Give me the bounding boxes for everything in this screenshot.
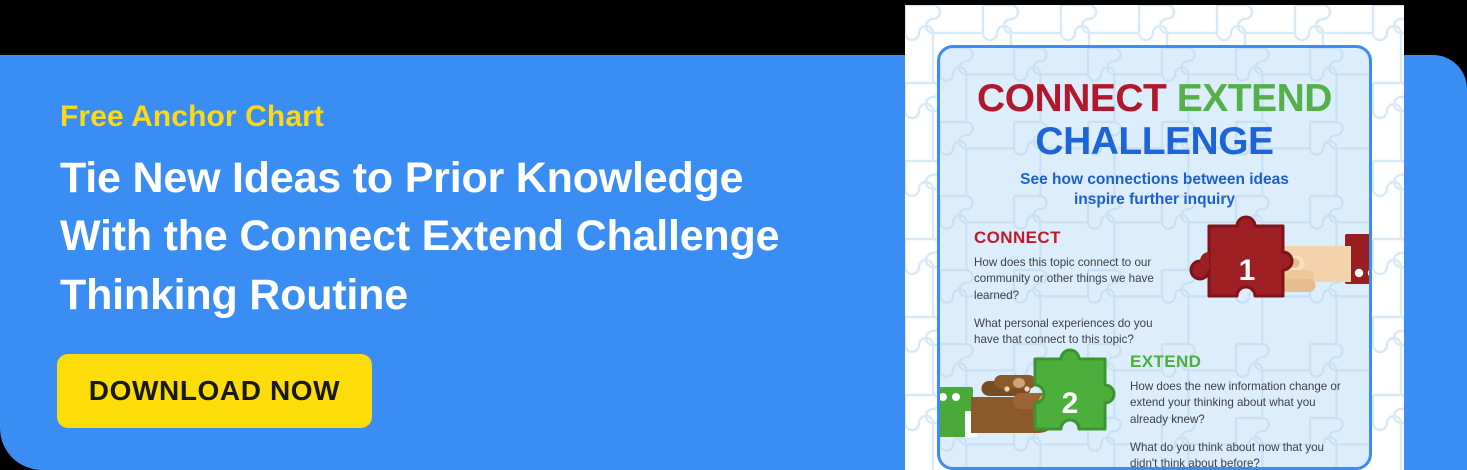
section-connect-paragraph-1: How does this topic connect to our commu… xyxy=(974,255,1179,305)
headline-line-2: With the Connect Extend Challenge xyxy=(60,207,880,265)
puzzle-piece-2: 2 xyxy=(1035,350,1114,429)
poster-inner-panel: CONNECT EXTEND CHALLENGE See how connect… xyxy=(937,45,1372,470)
section-extend-paragraph-1: How does the new information change or e… xyxy=(1130,379,1348,429)
poster-title-line-2: CHALLENGE xyxy=(940,122,1369,161)
promo-copy-block: Free Anchor Chart Tie New Ideas to Prior… xyxy=(60,100,880,324)
section-connect-paragraph-2: What personal experiences do you have th… xyxy=(974,316,1179,349)
poster-title-line-1: CONNECT EXTEND xyxy=(940,79,1369,118)
section-connect-body: How does this topic connect to our commu… xyxy=(974,255,1179,349)
section-connect-heading: CONNECT xyxy=(974,229,1179,248)
section-extend-heading: EXTEND xyxy=(1130,353,1348,372)
page-title: Tie New Ideas to Prior Knowledge With th… xyxy=(60,149,880,324)
download-now-button[interactable]: DOWNLOAD NOW xyxy=(57,354,372,428)
headline-line-3: Thinking Routine xyxy=(60,266,880,324)
section-connect: CONNECT How does this topic connect to o… xyxy=(974,229,1179,349)
extend-puzzle-graphic: 2 xyxy=(937,353,1135,468)
poster-subtitle: See how connections between ideas inspir… xyxy=(940,170,1369,210)
poster-subtitle-line-1: See how connections between ideas xyxy=(940,170,1369,190)
section-extend: EXTEND How does the new information chan… xyxy=(1130,353,1348,470)
poster-title: CONNECT EXTEND CHALLENGE xyxy=(940,79,1369,161)
connect-puzzle-graphic: 1 xyxy=(1185,216,1372,314)
title-word-connect: CONNECT xyxy=(977,77,1166,120)
puzzle-piece-2-number: 2 xyxy=(1062,387,1079,420)
puzzle-piece-1: 1 xyxy=(1191,217,1292,296)
eyebrow-label: Free Anchor Chart xyxy=(60,100,880,133)
promo-banner: Free Anchor Chart Tie New Ideas to Prior… xyxy=(0,0,1467,470)
headline-line-1: Tie New Ideas to Prior Knowledge xyxy=(60,149,880,207)
anchor-chart-poster[interactable]: CONNECT EXTEND CHALLENGE See how connect… xyxy=(905,5,1404,470)
section-extend-paragraph-2: What do you think about now that you did… xyxy=(1130,440,1348,470)
poster-subtitle-line-2: inspire further inquiry xyxy=(940,190,1369,210)
title-word-extend: EXTEND xyxy=(1177,77,1332,120)
section-extend-body: How does the new information change or e… xyxy=(1130,379,1348,470)
puzzle-piece-1-number: 1 xyxy=(1239,254,1256,287)
